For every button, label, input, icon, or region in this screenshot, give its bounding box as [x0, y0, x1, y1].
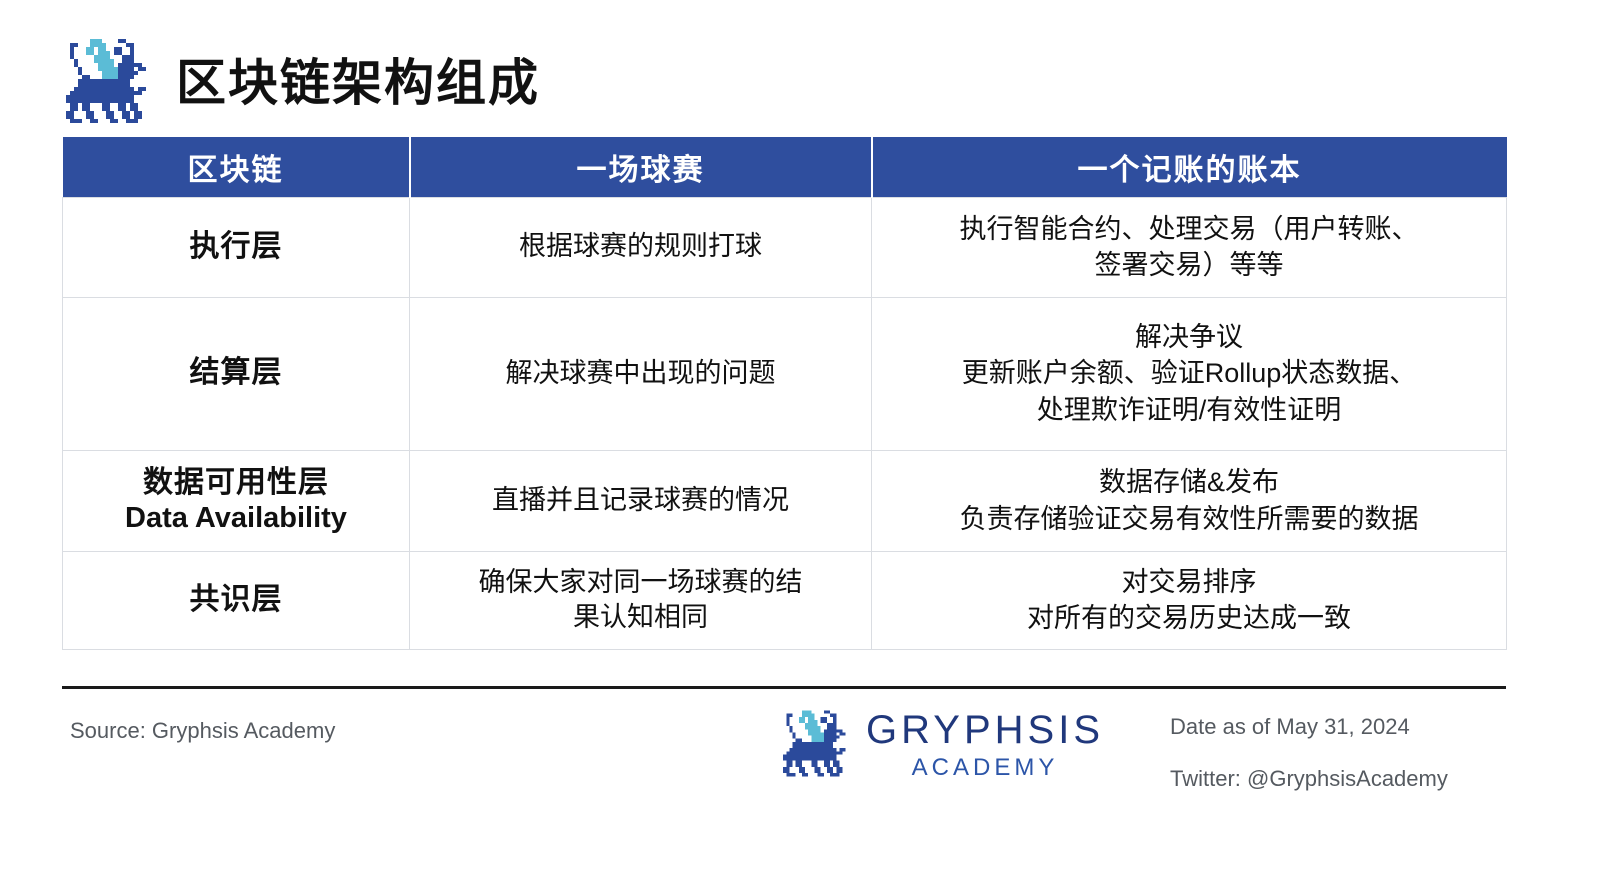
ledger-line: 处理欺诈证明/有效性证明 [882, 392, 1496, 428]
footer-date: Date as of May 31, 2024 [1170, 714, 1500, 740]
ledger-line: 对交易排序 [882, 564, 1496, 600]
analogy-cell: 确保大家对同一场球赛的结 果认知相同 [410, 551, 872, 649]
column-header-ballgame: 一场球赛 [410, 137, 872, 197]
layer-name-zh: 共识层 [73, 582, 399, 619]
ledger-line: 解决争议 [882, 319, 1496, 355]
layer-name-zh: 执行层 [73, 229, 399, 266]
ledger-cell: 对交易排序 对所有的交易历史达成一致 [872, 551, 1507, 649]
footer-brand-logo: GRYPHSIS ACADEMY [780, 706, 1104, 784]
analogy-cell: 根据球赛的规则打球 [410, 197, 872, 297]
column-header-blockchain: 区块链 [63, 137, 410, 197]
blockchain-architecture-table: 区块链 一场球赛 一个记账的账本 执行层 根据球赛的规则打球 执行智能合约、处理… [62, 137, 1507, 650]
column-header-ledger: 一个记账的账本 [872, 137, 1507, 197]
layer-name-cell: 共识层 [63, 551, 410, 649]
gryphsis-griffin-logo-icon [780, 706, 852, 784]
brand-wordmark: GRYPHSIS ACADEMY [866, 710, 1104, 780]
ledger-line: 执行智能合约、处理交易（用户转账、 [882, 211, 1496, 247]
table-row: 结算层 解决球赛中出现的问题 解决争议 更新账户余额、验证Rollup状态数据、… [63, 297, 1507, 450]
footer-source: Source: Gryphsis Academy [70, 718, 335, 744]
ledger-line: 负责存储验证交易有效性所需要的数据 [882, 501, 1496, 537]
analogy-line: 确保大家对同一场球赛的结 [420, 565, 861, 600]
slide-header: 区块链架构组成 [62, 33, 540, 133]
ledger-line: 更新账户余额、验证Rollup状态数据、 [882, 355, 1496, 391]
table-header-row: 区块链 一场球赛 一个记账的账本 [63, 137, 1507, 197]
analogy-cell: 直播并且记录球赛的情况 [410, 450, 872, 551]
layer-name-cell: 结算层 [63, 297, 410, 450]
footer-divider [62, 686, 1506, 689]
brand-subtitle: ACADEMY [912, 756, 1059, 780]
analogy-line: 果认知相同 [420, 600, 861, 635]
ledger-cell: 解决争议 更新账户余额、验证Rollup状态数据、 处理欺诈证明/有效性证明 [872, 297, 1507, 450]
layer-name-zh: 结算层 [73, 355, 399, 392]
layer-name-zh: 数据可用性层 [73, 465, 399, 502]
brand-name: GRYPHSIS [866, 710, 1104, 750]
ledger-cell: 执行智能合约、处理交易（用户转账、 签署交易）等等 [872, 197, 1507, 297]
ledger-line: 签署交易）等等 [882, 247, 1496, 283]
page-title: 区块链架构组成 [176, 58, 540, 108]
layer-name-cell: 执行层 [63, 197, 410, 297]
ledger-cell: 数据存储&发布 负责存储验证交易有效性所需要的数据 [872, 450, 1507, 551]
slide-footer: Source: Gryphsis Academy [62, 700, 1506, 820]
footer-meta: Date as of May 31, 2024 Twitter: @Gryphs… [1170, 714, 1500, 792]
table-row: 数据可用性层 Data Availability 直播并且记录球赛的情况 数据存… [63, 450, 1507, 551]
footer-twitter: Twitter: @GryphsisAcademy [1170, 766, 1500, 792]
analogy-cell: 解决球赛中出现的问题 [410, 297, 872, 450]
layer-name-en: Data Availability [73, 501, 399, 536]
gryphsis-griffin-logo-icon [62, 35, 154, 131]
slide-root: 区块链架构组成 区块链 一场球赛 一个记账的账本 执行层 根据球赛的规则打球 执… [0, 0, 1600, 872]
table-row: 执行层 根据球赛的规则打球 执行智能合约、处理交易（用户转账、 签署交易）等等 [63, 197, 1507, 297]
ledger-line: 数据存储&发布 [882, 464, 1496, 500]
layer-name-cell: 数据可用性层 Data Availability [63, 450, 410, 551]
table-row: 共识层 确保大家对同一场球赛的结 果认知相同 对交易排序 对所有的交易历史达成一… [63, 551, 1507, 649]
ledger-line: 对所有的交易历史达成一致 [882, 600, 1496, 636]
